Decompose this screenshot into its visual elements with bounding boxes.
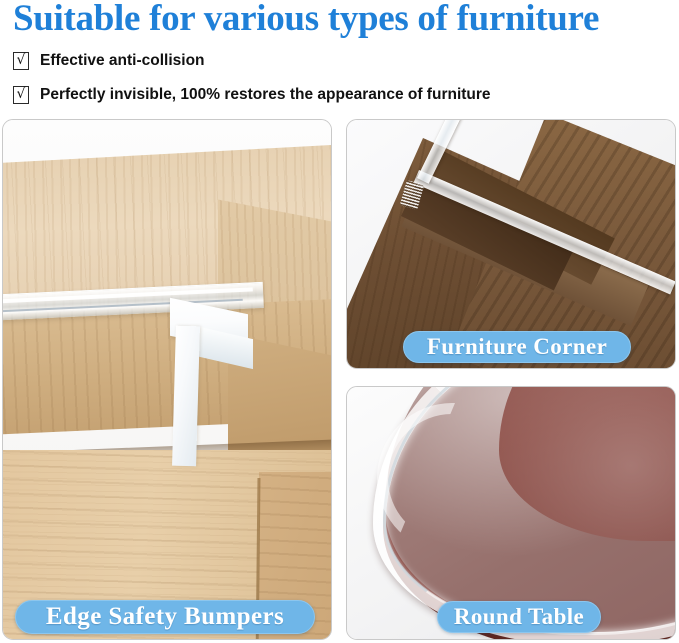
checkbox-icon: √ (13, 52, 29, 70)
feature-bullet-text: Effective anti-collision (40, 52, 205, 70)
feature-bullet: √ Perfectly invisible, 100% restores the… (13, 83, 491, 107)
check-glyph: √ (17, 87, 26, 101)
photo-edge-safety-bumpers (3, 120, 331, 639)
header-section: Suitable for various types of furniture … (0, 0, 679, 115)
product-photo-panel-edge (2, 119, 332, 640)
clear-bumper-front-face (172, 326, 200, 467)
check-glyph: √ (17, 53, 26, 67)
caption-round-table: Round Table (437, 601, 601, 633)
caption-edge-safety-bumpers: Edge Safety Bumpers (15, 600, 315, 634)
feature-bullet-text: Perfectly invisible, 100% restores the a… (40, 86, 491, 104)
checkbox-icon: √ (13, 86, 29, 104)
page-title: Suitable for various types of furniture (13, 0, 673, 40)
feature-bullet: √ Effective anti-collision (13, 49, 205, 73)
caption-furniture-corner: Furniture Corner (403, 331, 631, 363)
